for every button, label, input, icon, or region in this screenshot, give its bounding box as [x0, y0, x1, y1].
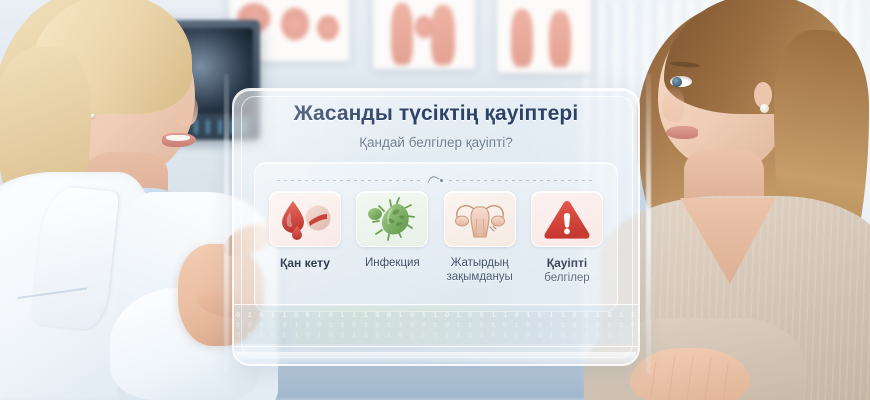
risk-cards-panel: Қан кету — [254, 162, 618, 312]
patient-lips — [666, 126, 698, 139]
warning-triangle-icon — [542, 197, 592, 241]
strip-divider-bottom — [234, 346, 638, 347]
risk-card-label: Қауіпті белгілер — [544, 256, 589, 285]
patient-iris — [672, 77, 682, 87]
risk-card-label-line2: белгілер — [544, 271, 589, 285]
risk-card-uterus-damage[interactable]: Жатырдың зақымдануы — [438, 191, 522, 284]
risk-card-label: Инфекция — [365, 256, 420, 270]
patient-figure — [624, 0, 870, 400]
card-tile[interactable] — [531, 191, 603, 247]
divider-dash-right — [449, 180, 595, 181]
risk-card-infection[interactable]: Инфекция — [350, 191, 434, 270]
card-tile[interactable] — [356, 191, 428, 247]
page-title: Жасанды түсіктің қауіптері — [294, 102, 579, 126]
divider-dash-left — [277, 180, 423, 181]
patient-fingers — [638, 356, 742, 400]
uterus-icon — [452, 197, 508, 241]
divider-ornament-icon — [429, 175, 443, 185]
anatomy-poster — [372, 0, 476, 70]
doctor-teeth — [166, 135, 190, 141]
risk-card-danger-signs[interactable]: Қауіпті белгілер — [525, 191, 609, 285]
consultation-scene: Жасанды түсіктің қауіптері Қандай белгіл… — [0, 0, 870, 400]
blood-drop-icon — [278, 198, 332, 240]
risk-card-bleeding[interactable]: Қан кету — [263, 191, 347, 271]
glass-edge-left — [224, 74, 229, 374]
patient-nose — [662, 88, 684, 122]
card-tile[interactable] — [269, 191, 341, 247]
risk-card-label-line1: Қауіпті — [544, 256, 589, 271]
risk-card-label: Қан кету — [280, 256, 330, 271]
strip-divider-top — [234, 304, 638, 305]
risk-card-label-line1: Жатырдың — [451, 257, 509, 269]
bacteria-icon — [366, 197, 418, 241]
decorative-divider — [277, 175, 595, 185]
anatomy-poster — [496, 0, 592, 74]
glass-panel-foot — [236, 352, 636, 362]
risk-card-label-line2: зақымдануы — [446, 270, 512, 284]
glass-edge-right — [646, 74, 651, 374]
page-subtitle: Қандай белгілер қауіпті? — [359, 135, 513, 150]
patient-earring — [760, 104, 769, 113]
card-tile[interactable] — [444, 191, 516, 247]
panel-content: Жасанды түсіктің қауіптері Қандай белгіл… — [232, 88, 640, 366]
risk-card-label: Жатырдың зақымдануы — [446, 256, 512, 284]
risk-cards-row: Қан кету — [263, 191, 609, 285]
